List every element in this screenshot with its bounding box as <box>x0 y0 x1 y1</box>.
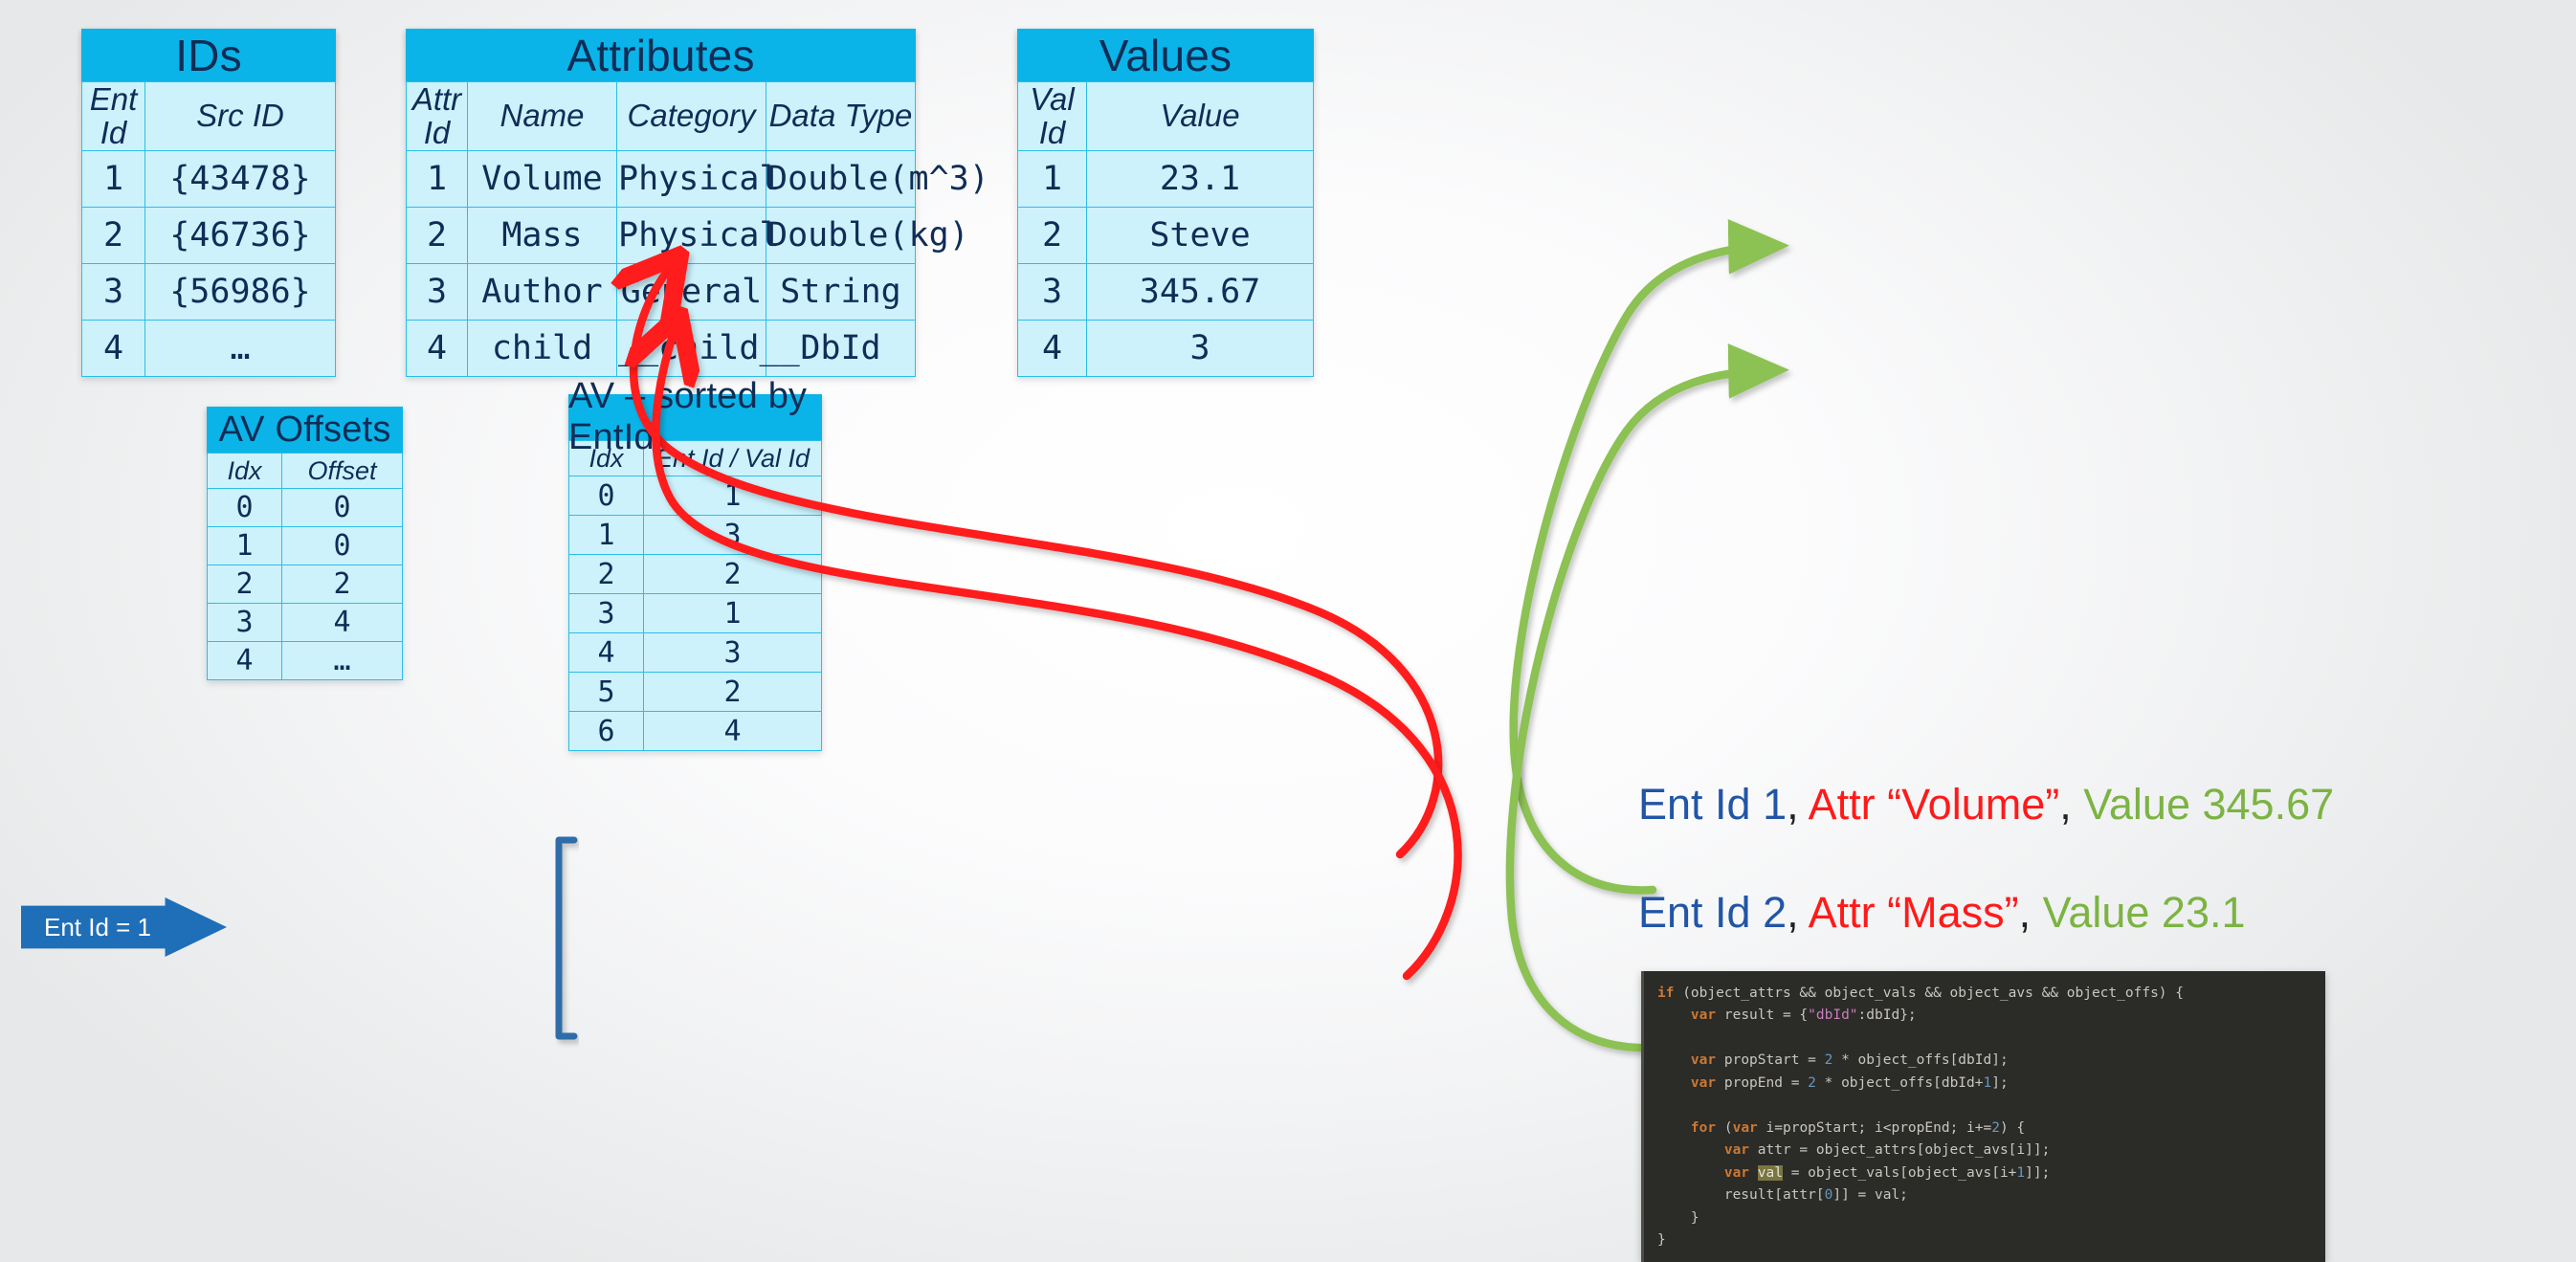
cell-offset: 4 <box>282 604 403 642</box>
table-row: 3 {56986} <box>82 264 336 321</box>
callout-1-sep2: , <box>2059 780 2083 829</box>
table-av-caption: AV – sorted by EntId <box>568 394 822 440</box>
table-row: 4 3 <box>1018 321 1314 377</box>
cell-value: 3 <box>1087 321 1314 377</box>
table-row: 4 … <box>82 321 336 377</box>
cell-src-id: … <box>145 321 336 377</box>
cell-offset: 0 <box>282 527 403 565</box>
table-row: 1 3 <box>569 516 822 555</box>
callout-1-value: Value 345.67 <box>2083 780 2334 829</box>
table-av-offsets-caption: AV Offsets <box>207 407 403 453</box>
callout-line-2: Ent Id 2, Attr “Mass”, Value 23.1 <box>1638 888 2246 938</box>
cell-entid-valid: 3 <box>644 633 822 673</box>
table-row: 2 Mass Physical Double(kg) <box>407 208 916 264</box>
cell-name: child <box>468 321 617 377</box>
cell-entid-valid: 1 <box>644 476 822 516</box>
cell-val-id: 1 <box>1018 151 1087 208</box>
table-row: 3 1 <box>569 594 822 633</box>
table-row: 4 child __child__ DbId <box>407 321 916 377</box>
cell-ent-id: 1 <box>82 151 145 208</box>
cell-offset: 2 <box>282 565 403 604</box>
table-values-grid: ValId Value 1 23.1 2 Steve 3 345.67 4 3 <box>1017 81 1314 377</box>
cell-idx: 3 <box>569 594 644 633</box>
table-attributes: Attributes AttrId Name Category Data Typ… <box>406 29 916 377</box>
cell-data-type: Double(m^3) <box>766 151 916 208</box>
cell-entid-valid: 2 <box>644 555 822 594</box>
code-line: var propStart = 2 * object_offs[dbId]; <box>1657 1050 2325 1072</box>
cell-name: Mass <box>468 208 617 264</box>
table-attributes-grid: AttrId Name Category Data Type 1 Volume … <box>406 81 916 377</box>
cell-data-type: String <box>766 264 916 321</box>
col-src-id: Src ID <box>145 82 336 151</box>
table-row: 1 23.1 <box>1018 151 1314 208</box>
cell-category: General <box>617 264 766 321</box>
cell-name: Author <box>468 264 617 321</box>
cell-entid-valid: 3 <box>644 516 822 555</box>
cell-ent-id: 2 <box>82 208 145 264</box>
table-row: 4 … <box>208 642 403 680</box>
cell-entid-valid: 4 <box>644 712 822 751</box>
code-snippet: if (object_attrs && object_vals && objec… <box>1641 971 2325 1262</box>
cell-idx: 4 <box>208 642 282 680</box>
callout-1-sep1: , <box>1787 780 1809 829</box>
table-ids-grid: EntId Src ID 1 {43478} 2 {46736} 3 {5698… <box>81 81 336 377</box>
code-line: var propEnd = 2 * object_offs[dbId+1]; <box>1657 1073 2325 1095</box>
callout-1-ent: Ent Id 1 <box>1638 780 1787 829</box>
table-av-offsets: AV Offsets Idx Offset 0 0 1 0 2 2 3 4 <box>207 407 403 680</box>
cell-val-id: 3 <box>1018 264 1087 321</box>
callout-1-attr: Attr “Volume” <box>1809 780 2060 829</box>
cell-idx: 1 <box>208 527 282 565</box>
table-ids: IDs EntId Src ID 1 {43478} 2 {46736} 3 {… <box>81 29 336 377</box>
cell-ent-id: 3 <box>82 264 145 321</box>
cell-idx: 2 <box>208 565 282 604</box>
callout-2-ent: Ent Id 2 <box>1638 888 1787 937</box>
cell-val-id: 4 <box>1018 321 1087 377</box>
code-line <box>1657 1095 2325 1117</box>
col-ent-id: EntId <box>82 82 145 151</box>
cell-ent-id: 4 <box>82 321 145 377</box>
table-row: 3 4 <box>208 604 403 642</box>
cell-attr-id: 2 <box>407 208 468 264</box>
ent-id-query-label: Ent Id = 1 <box>21 897 174 957</box>
code-line: var result = {"dbId":dbId}; <box>1657 1005 2325 1027</box>
cell-attr-id: 3 <box>407 264 468 321</box>
col-offset: Offset <box>282 454 403 489</box>
cell-category: __child__ <box>617 321 766 377</box>
table-av-offsets-grid: Idx Offset 0 0 1 0 2 2 3 4 4 … <box>207 453 403 680</box>
table-row: 0 0 <box>208 489 403 527</box>
table-values-caption: Values <box>1017 29 1314 81</box>
cell-value: 345.67 <box>1087 264 1314 321</box>
callout-2-attr: Attr “Mass” <box>1809 888 2019 937</box>
code-line: } <box>1657 1229 2325 1251</box>
table-row: 2 {46736} <box>82 208 336 264</box>
table-av-offsets-header-row: Idx Offset <box>208 454 403 489</box>
table-values-header-row: ValId Value <box>1018 82 1314 151</box>
code-line: var attr = object_attrs[object_avs[i]]; <box>1657 1140 2325 1162</box>
cell-category: Physical <box>617 208 766 264</box>
code-line: } <box>1657 1207 2325 1229</box>
cell-category: Physical <box>617 151 766 208</box>
cell-idx: 6 <box>569 712 644 751</box>
col-category: Category <box>617 82 766 151</box>
cell-value: 23.1 <box>1087 151 1314 208</box>
table-row: 3 345.67 <box>1018 264 1314 321</box>
table-row: 2 Steve <box>1018 208 1314 264</box>
code-line: result[attr[0]] = val; <box>1657 1185 2325 1207</box>
table-row: 4 3 <box>569 633 822 673</box>
table-attributes-header-row: AttrId Name Category Data Type <box>407 82 916 151</box>
cell-src-id: {46736} <box>145 208 336 264</box>
callout-2-value: Value 23.1 <box>2043 888 2246 937</box>
table-av: AV – sorted by EntId Idx Ent Id / Val Id… <box>568 394 822 751</box>
callout-line-1: Ent Id 1, Attr “Volume”, Value 345.67 <box>1638 780 2334 830</box>
code-line: for (var i=propStart; i<propEnd; i+=2) { <box>1657 1118 2325 1140</box>
col-val-id: ValId <box>1018 82 1087 151</box>
cell-data-type: Double(kg) <box>766 208 916 264</box>
cell-idx: 0 <box>208 489 282 527</box>
col-entid-valid: Ent Id / Val Id <box>644 441 822 476</box>
cell-idx: 5 <box>569 673 644 712</box>
code-line <box>1657 1028 2325 1050</box>
cell-idx: 4 <box>569 633 644 673</box>
code-line: var val = object_vals[object_avs[i+1]]; <box>1657 1162 2325 1185</box>
col-value: Value <box>1087 82 1314 151</box>
table-row: 1 Volume Physical Double(m^3) <box>407 151 916 208</box>
col-idx: Idx <box>208 454 282 489</box>
green-arrow-val-345-67 <box>1510 370 1773 1048</box>
cell-attr-id: 4 <box>407 321 468 377</box>
callout-2-sep2: , <box>2019 888 2043 937</box>
cell-idx: 0 <box>569 476 644 516</box>
cell-offset: … <box>282 642 403 680</box>
cell-entid-valid: 1 <box>644 594 822 633</box>
cell-val-id: 2 <box>1018 208 1087 264</box>
cell-entid-valid: 2 <box>644 673 822 712</box>
col-data-type: Data Type <box>766 82 916 151</box>
blue-row-bracket <box>559 840 574 1036</box>
table-ids-header-row: EntId Src ID <box>82 82 336 151</box>
table-row: 5 2 <box>569 673 822 712</box>
cell-idx: 3 <box>208 604 282 642</box>
table-row: 1 0 <box>208 527 403 565</box>
table-row: 2 2 <box>208 565 403 604</box>
table-row: 0 1 <box>569 476 822 516</box>
cell-idx: 2 <box>569 555 644 594</box>
table-av-header-row: Idx Ent Id / Val Id <box>569 441 822 476</box>
table-attributes-caption: Attributes <box>406 29 916 81</box>
cell-value: Steve <box>1087 208 1314 264</box>
table-row: 2 2 <box>569 555 822 594</box>
table-av-grid: Idx Ent Id / Val Id 0 1 1 3 2 2 3 1 4 3 <box>568 440 822 751</box>
col-attr-id: AttrId <box>407 82 468 151</box>
table-row: 1 {43478} <box>82 151 336 208</box>
callout-2-sep1: , <box>1787 888 1809 937</box>
table-values: Values ValId Value 1 23.1 2 Steve 3 345.… <box>1017 29 1314 377</box>
cell-attr-id: 1 <box>407 151 468 208</box>
table-row: 3 Author General String <box>407 264 916 321</box>
cell-idx: 1 <box>569 516 644 555</box>
cell-name: Volume <box>468 151 617 208</box>
table-row: 6 4 <box>569 712 822 751</box>
col-name: Name <box>468 82 617 151</box>
table-ids-caption: IDs <box>81 29 336 81</box>
cell-offset: 0 <box>282 489 403 527</box>
cell-src-id: {43478} <box>145 151 336 208</box>
code-line: if (object_attrs && object_vals && objec… <box>1657 983 2325 1005</box>
cell-src-id: {56986} <box>145 264 336 321</box>
